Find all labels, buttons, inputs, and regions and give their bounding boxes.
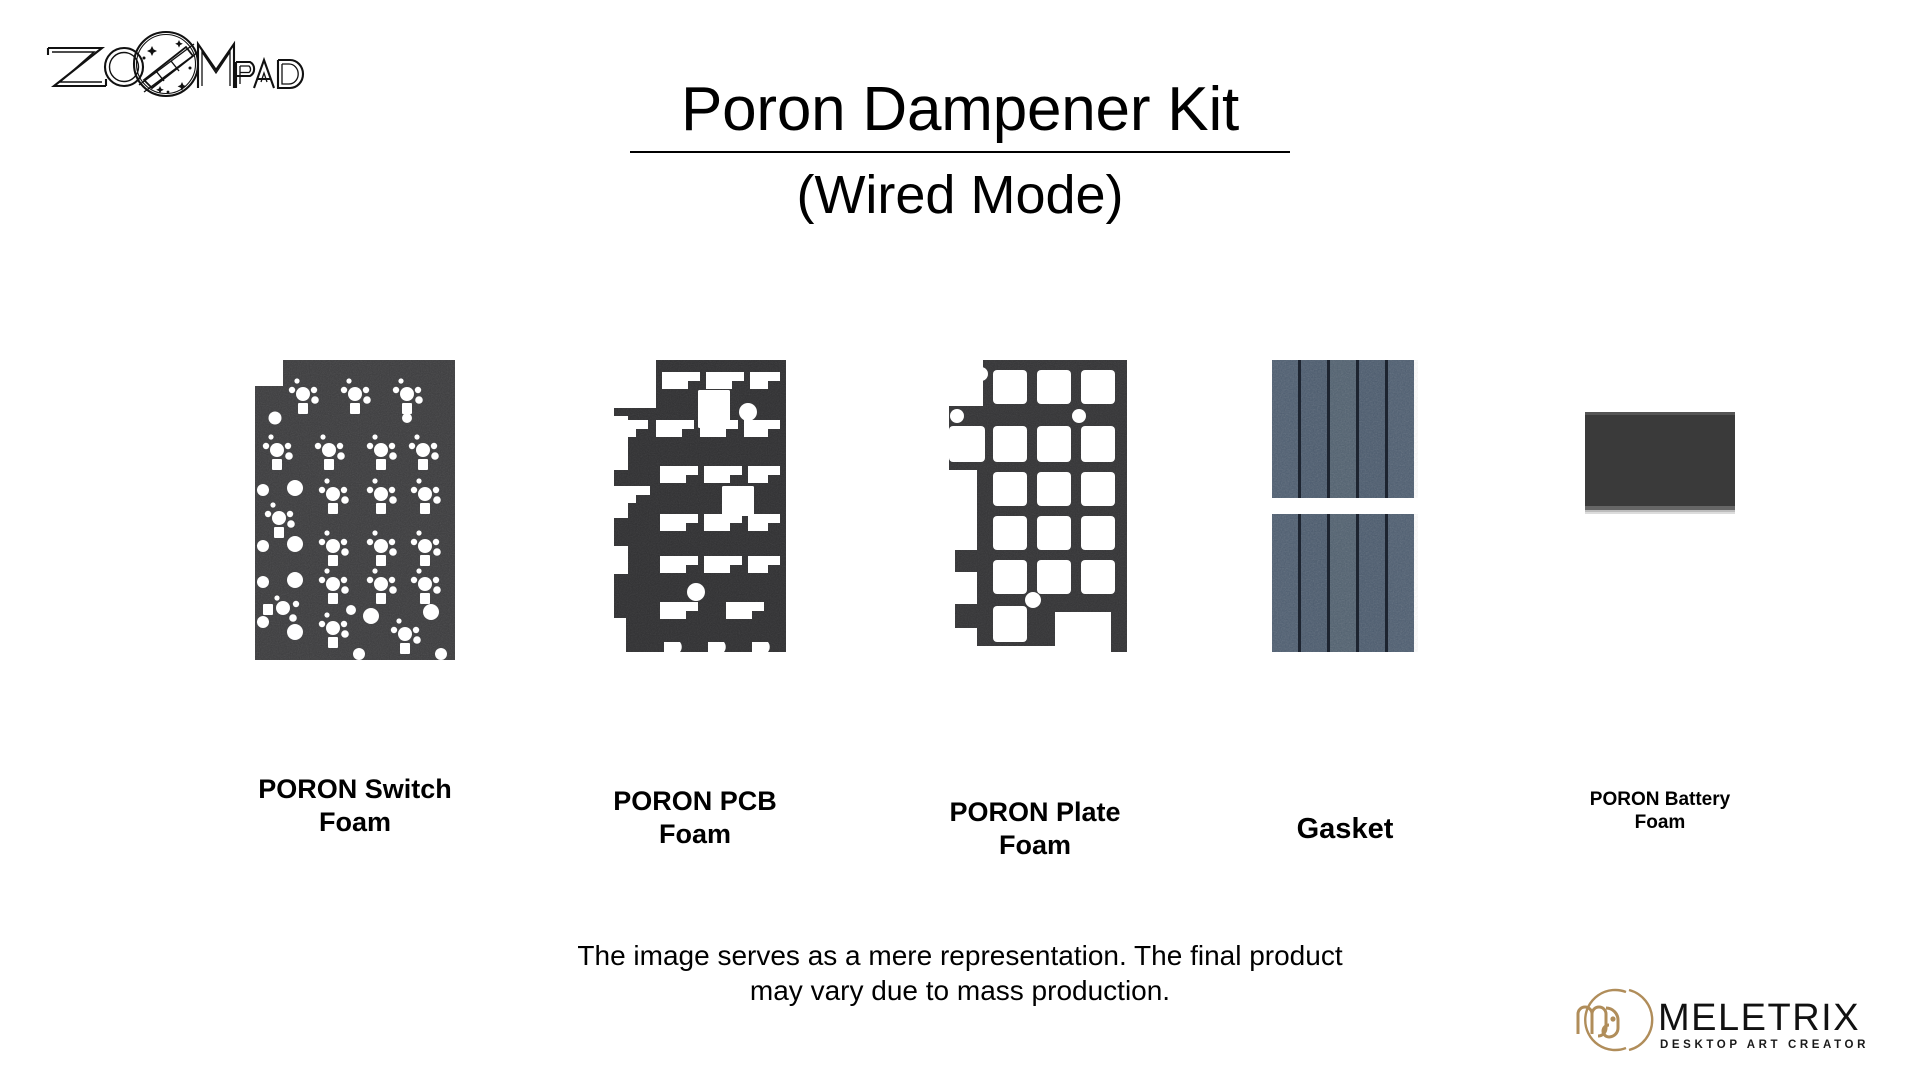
plate-foam-sheet-icon [943, 360, 1127, 657]
part-label-battery-foam: PORON Battery Foam [1520, 788, 1800, 834]
battery-foam-block-icon [1583, 410, 1737, 525]
page-title: Poron Dampener Kit [0, 78, 1920, 142]
parts-row: PORON Switch Foam [0, 360, 1920, 860]
label-line-1: PORON Switch [258, 774, 452, 804]
disclaimer-line-2: may vary due to mass production. [750, 975, 1170, 1006]
label-line-1: PORON PCB [613, 786, 777, 816]
disclaimer-text: The image serves as a mere representatio… [500, 938, 1420, 1009]
part-label-plate-foam: PORON Plate Foam [895, 796, 1175, 862]
meletrix-logo: MELETRIX DESKTOP ART CREATOR [1554, 978, 1884, 1062]
part-label-pcb-foam: PORON PCB Foam [555, 785, 835, 851]
label-line-1: PORON Battery [1590, 789, 1730, 810]
disclaimer-line-1: The image serves as a mere representatio… [577, 940, 1342, 971]
label-line-2: Foam [999, 830, 1071, 860]
meletrix-tagline: DESKTOP ART CREATOR [1660, 1039, 1869, 1051]
title-underline-rule [630, 151, 1290, 153]
gasket-strips-icon [1272, 360, 1418, 657]
label-line-1: Gasket [1297, 813, 1394, 845]
switch-foam-sheet-icon [255, 360, 455, 665]
part-label-switch-foam: PORON Switch Foam [215, 773, 495, 839]
meletrix-wordmark: MELETRIX [1658, 997, 1860, 1039]
label-line-2: Foam [1635, 812, 1686, 833]
label-line-2: Foam [319, 807, 391, 837]
part-label-gasket: Gasket [1230, 812, 1460, 847]
label-line-1: PORON Plate [949, 797, 1120, 827]
pcb-foam-sheet-icon [604, 360, 786, 657]
title-block: Poron Dampener Kit (Wired Mode) [0, 78, 1920, 224]
label-line-2: Foam [659, 819, 731, 849]
page-subtitle: (Wired Mode) [0, 167, 1920, 223]
